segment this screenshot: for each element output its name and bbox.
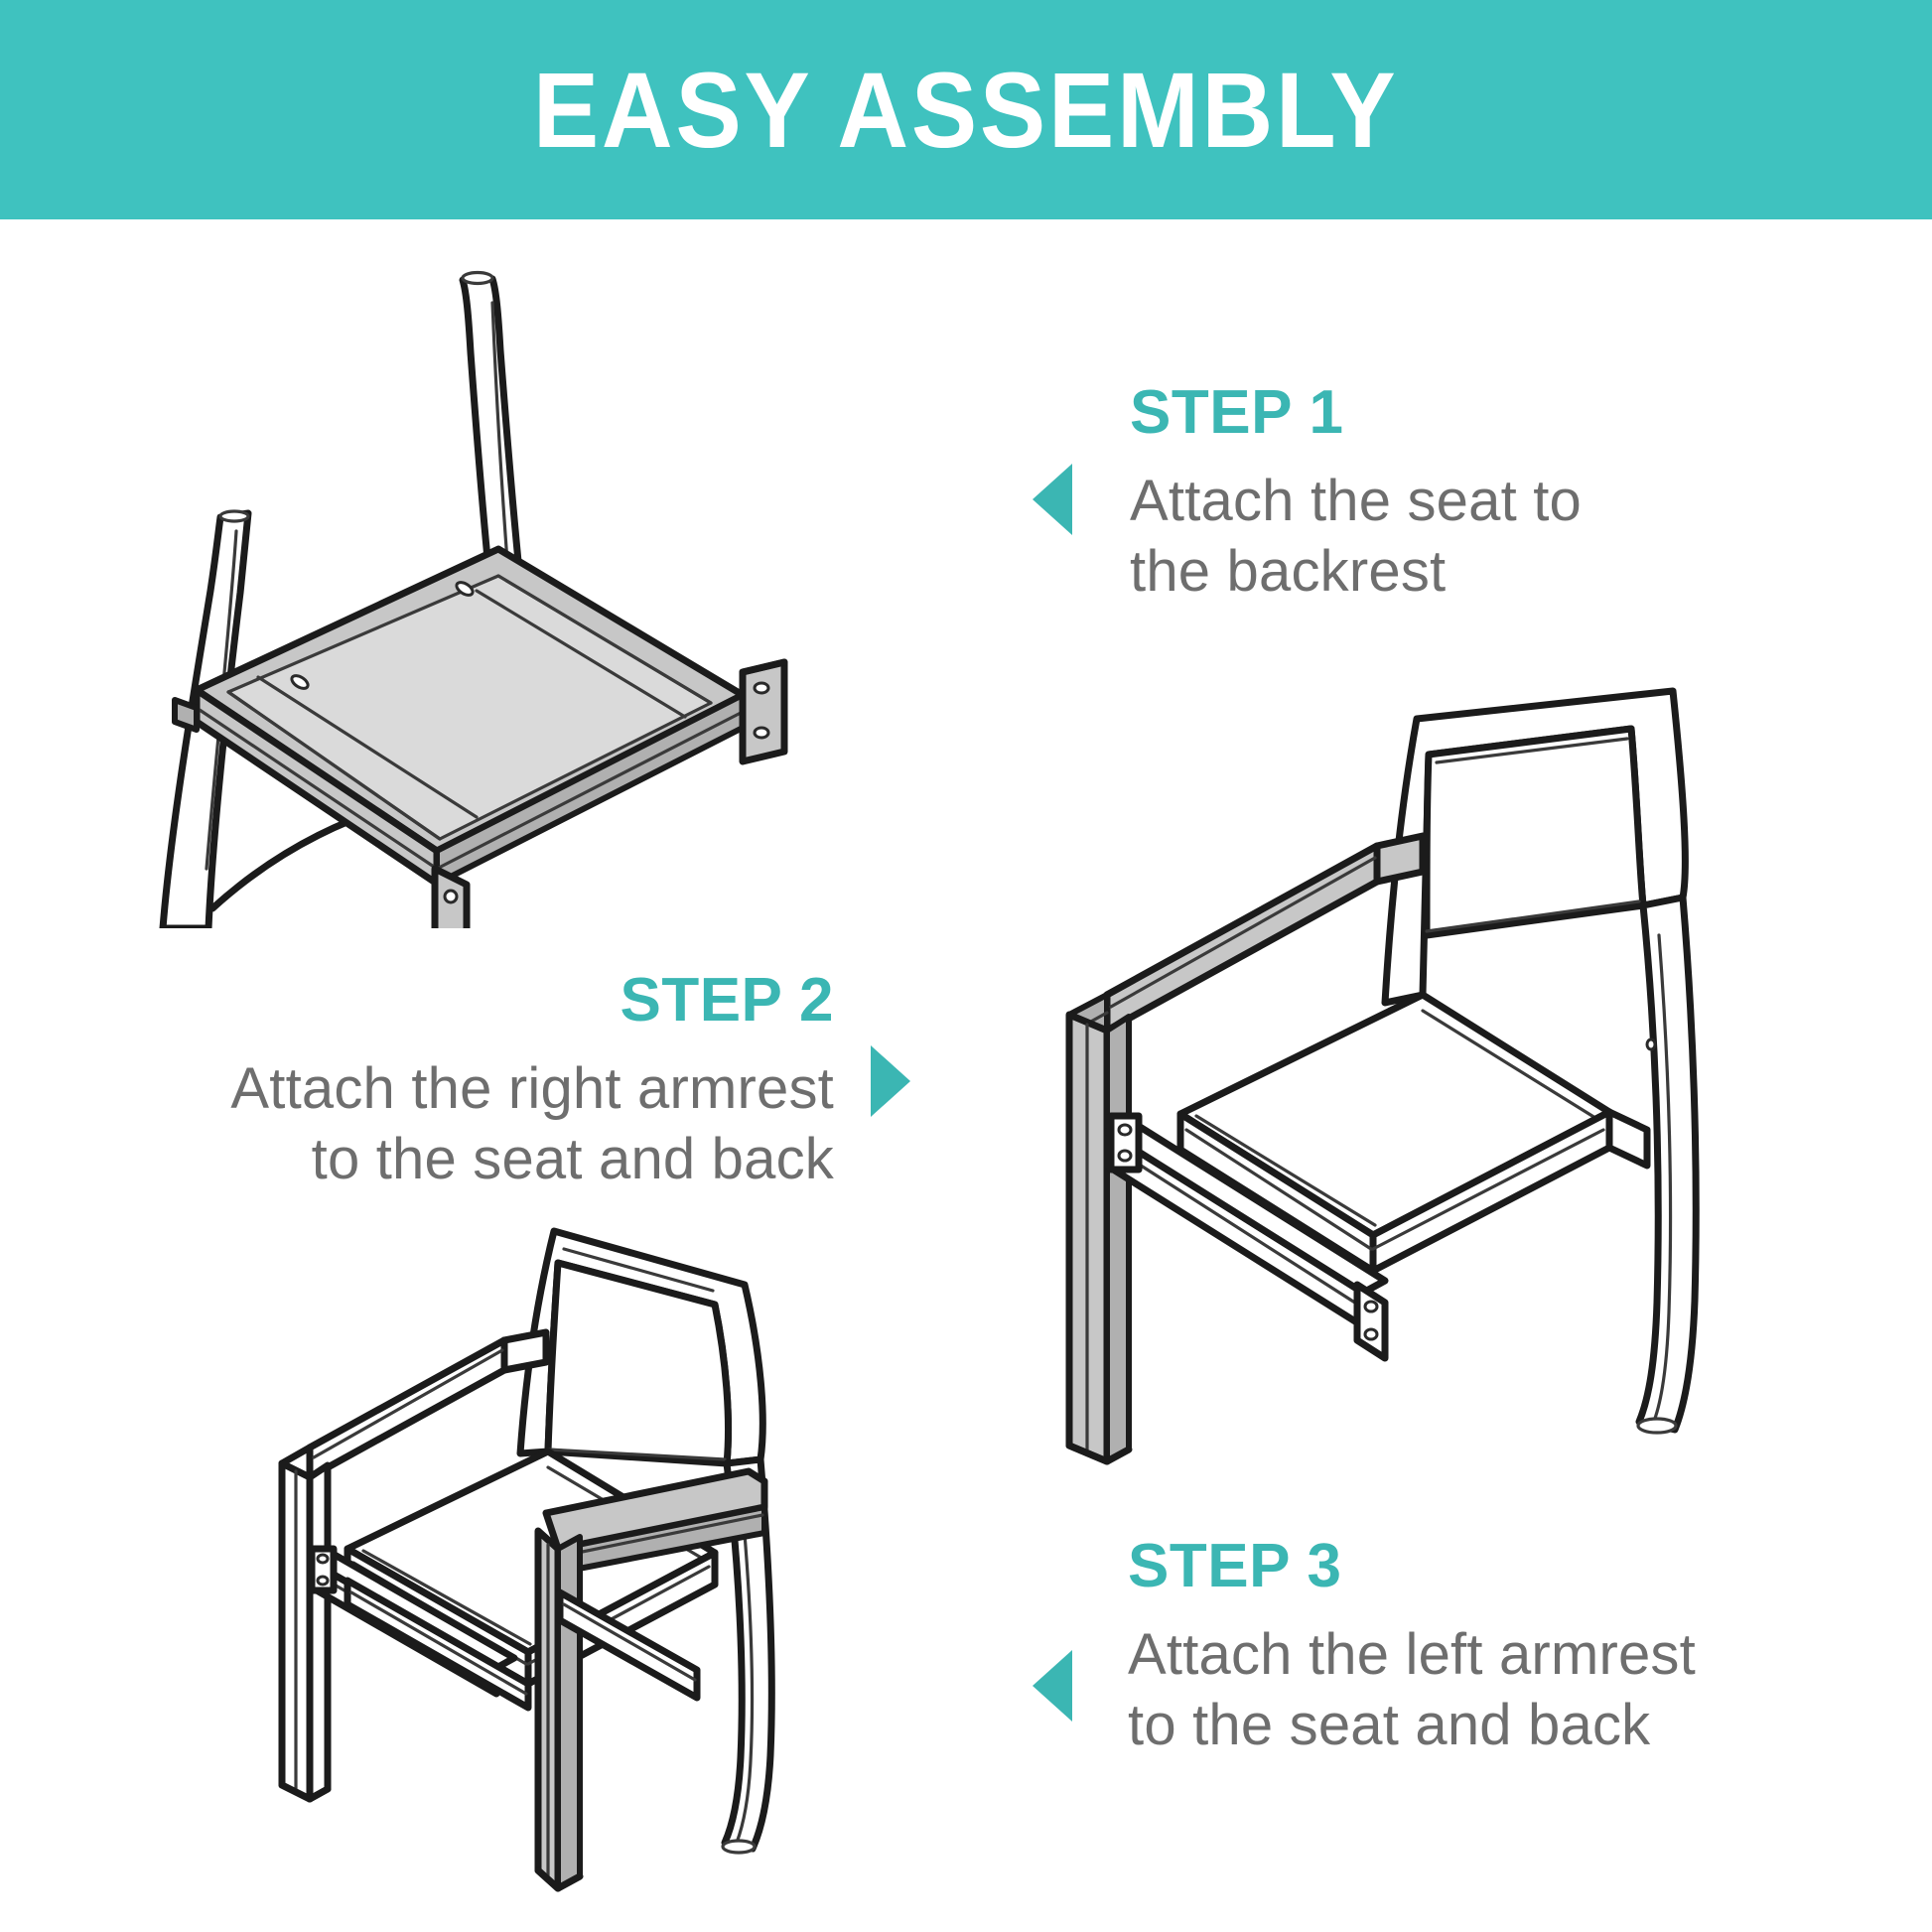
- step-2-description-line-1: Attach the right armrest: [94, 1054, 834, 1125]
- step-1-description-line-2: the backrest: [1130, 537, 1845, 608]
- step-2-description-line-2: to the seat and back: [94, 1125, 834, 1195]
- illustration-step-2: [1047, 667, 1862, 1491]
- step-1-description: Attach the seat to the backrest: [1130, 467, 1845, 608]
- page-title: EASY ASSEMBLY: [533, 57, 1399, 164]
- step-1-description-line-1: Attach the seat to: [1130, 467, 1845, 537]
- step-2-heading: STEP 2: [94, 968, 834, 1033]
- illustration-step-1: [149, 233, 844, 928]
- illustration-step-3: [230, 1203, 925, 1898]
- step-3-description: Attach the left armrest to the seat and …: [1128, 1620, 1902, 1761]
- step-1-text-block: STEP 1 Attach the seat to the backrest: [1130, 380, 1845, 608]
- step-3-heading: STEP 3: [1128, 1534, 1902, 1598]
- step-3-description-line-2: to the seat and back: [1128, 1691, 1902, 1761]
- header-banner: EASY ASSEMBLY: [0, 0, 1932, 219]
- step-2-text-block: STEP 2 Attach the right armrest to the s…: [94, 968, 834, 1195]
- step-1-arrow-left-icon: [1033, 464, 1072, 535]
- step-3-text-block: STEP 3 Attach the left armrest to the se…: [1128, 1534, 1902, 1761]
- step-3-arrow-left-icon: [1033, 1650, 1072, 1722]
- step-3-description-line-1: Attach the left armrest: [1128, 1620, 1902, 1691]
- step-2-description: Attach the right armrest to the seat and…: [94, 1054, 834, 1195]
- step-2-arrow-right-icon: [871, 1045, 910, 1117]
- step-1-heading: STEP 1: [1130, 380, 1845, 445]
